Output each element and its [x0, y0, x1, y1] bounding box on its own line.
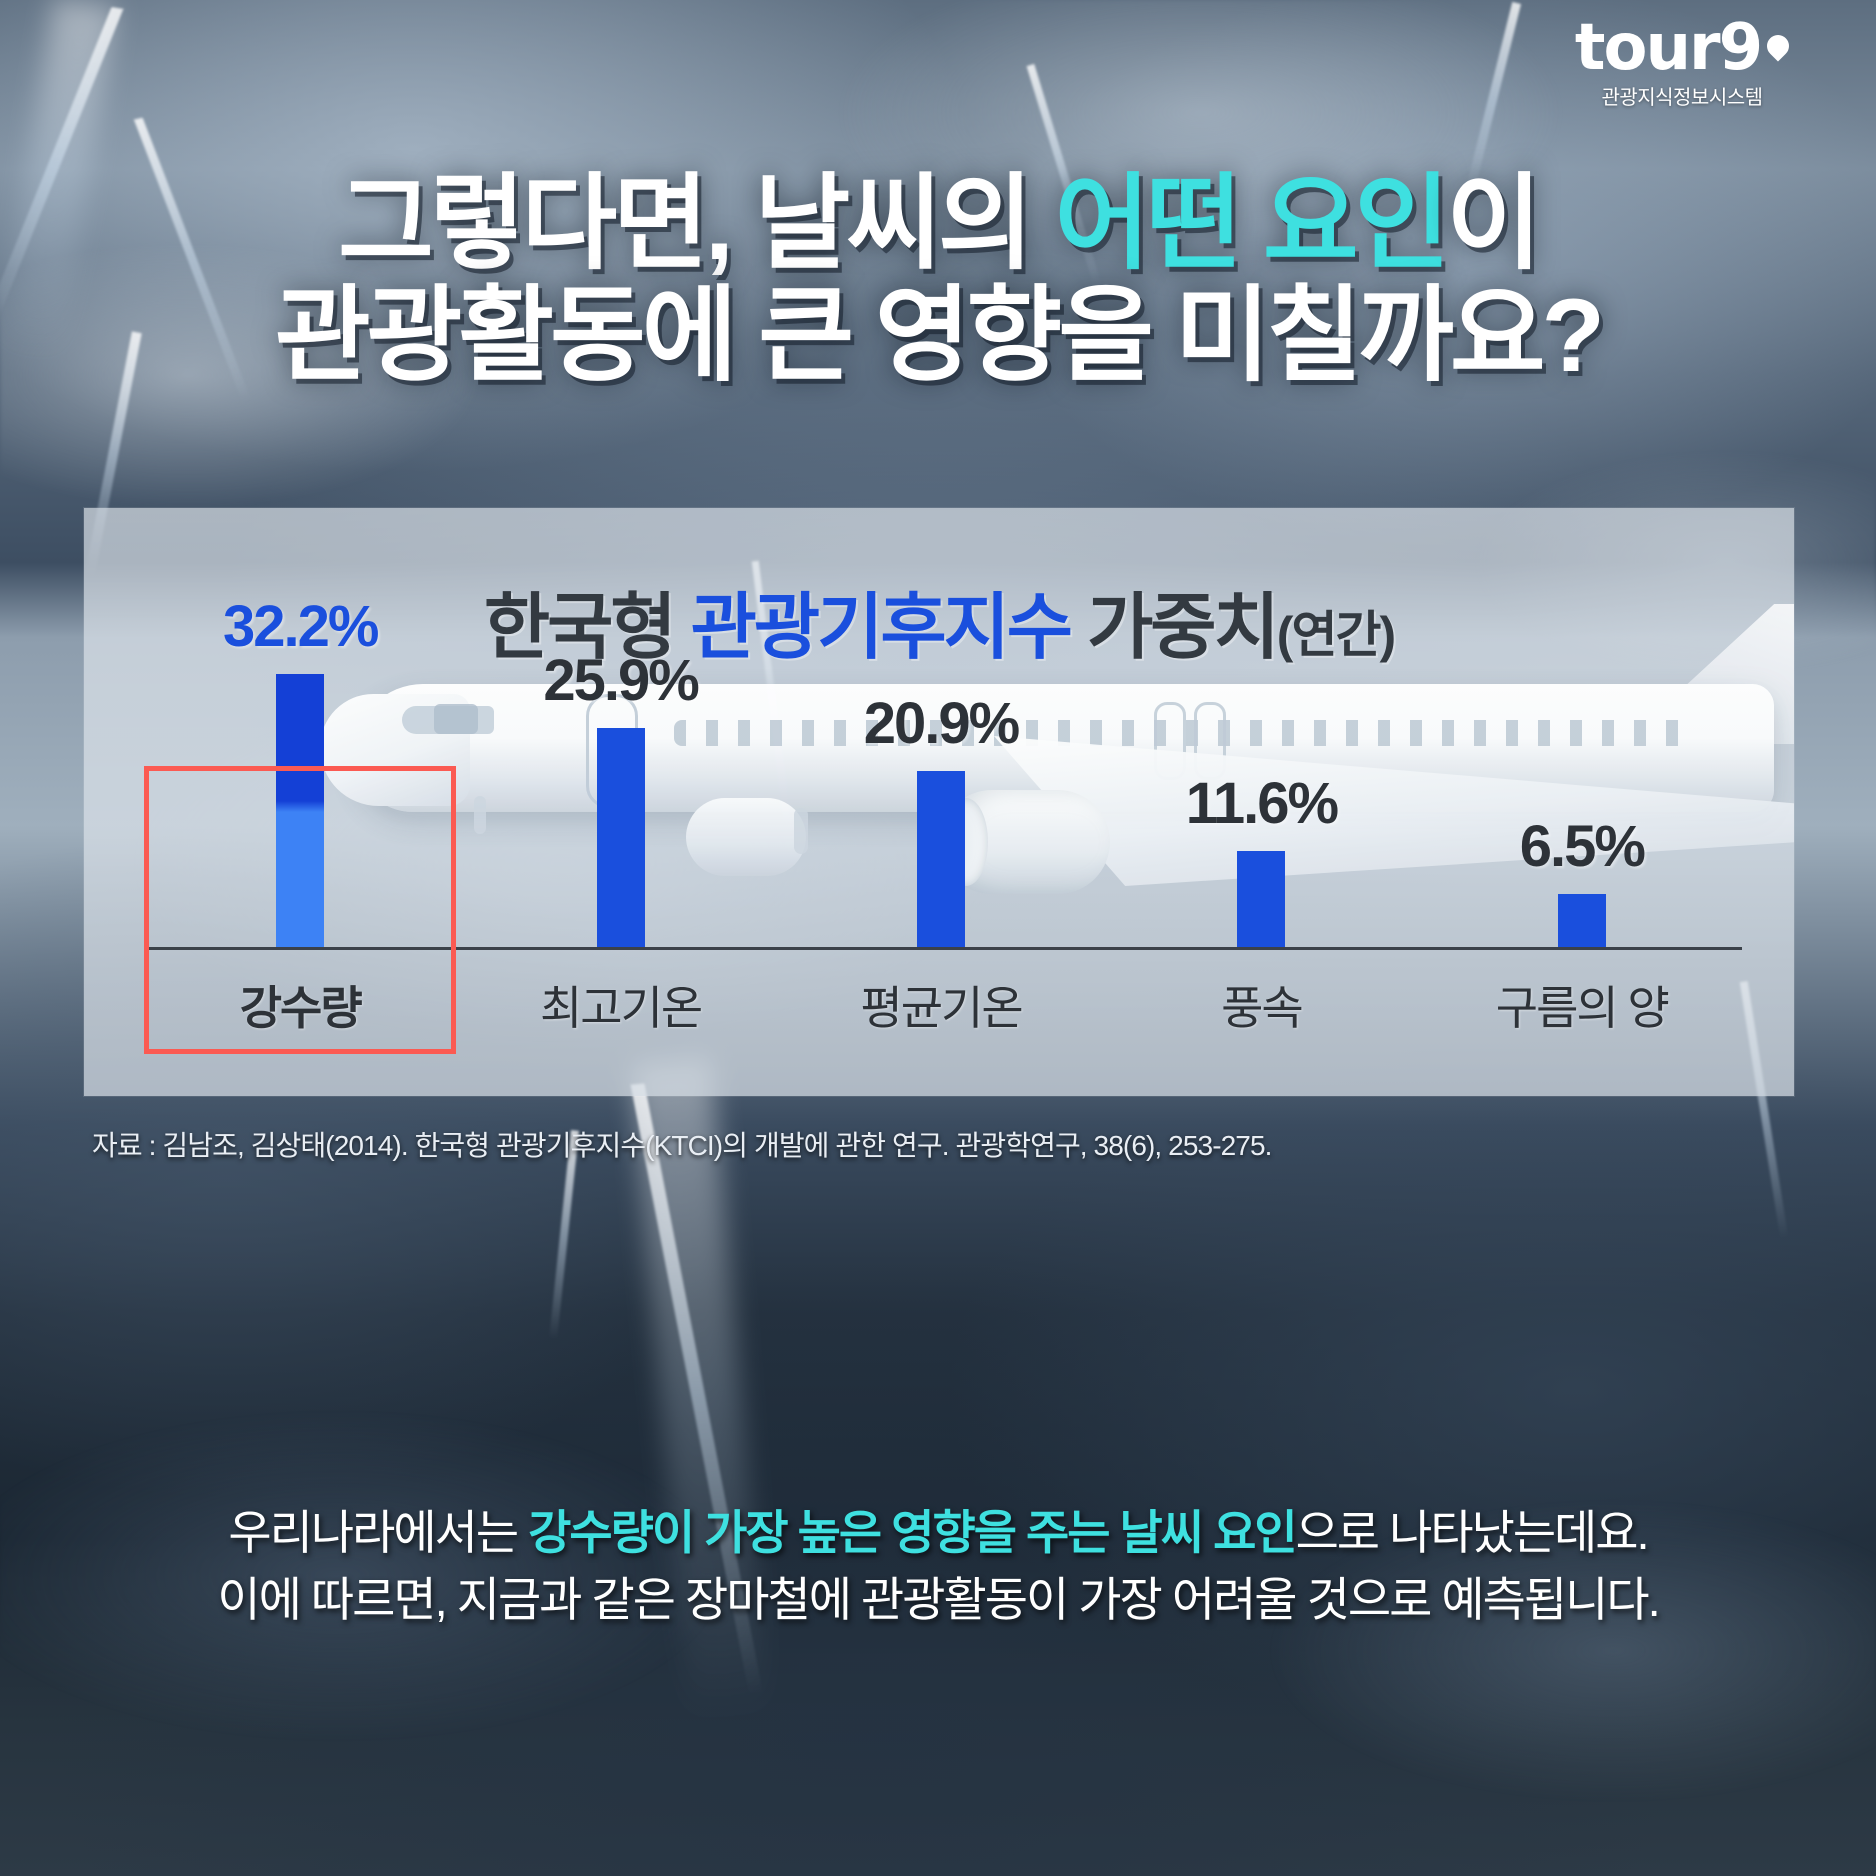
bar	[917, 771, 965, 950]
headline: 그렇다면, 날씨의 어떤 요인이 관광활동에 큰 영향을 미칠까요?	[0, 168, 1876, 393]
headline-line-1-lead: 그렇다면, 날씨의	[338, 166, 1054, 282]
bar-chart: 32.2%25.9%20.9%11.6%6.5% 강수량최고기온평균기온풍속구름…	[140, 698, 1742, 1068]
bottom-copy-line-1-highlight: 강수량이 가장 높은 영향을 주는 날씨 요인	[528, 1506, 1295, 1559]
category-label: 구름의 양	[1422, 972, 1742, 1038]
bottom-copy: 우리나라에서는 강수량이 가장 높은 영향을 주는 날씨 요인으로 나타났는데요…	[0, 1500, 1876, 1633]
headline-line-2: 관광활동에 큰 영향을 미칠까요?	[0, 280, 1876, 392]
chart-panel: 한국형 관광기후지수 가중치(연간) 32.2%25.9%20.9%11.6%6…	[84, 508, 1794, 1096]
bottom-copy-line-1-tail: 으로 나타났는데요.	[1296, 1506, 1648, 1559]
brand-tagline: 관광지식정보시스템	[1532, 81, 1832, 110]
category-label: 최고기온	[460, 972, 780, 1038]
bar-column: 25.9%	[460, 650, 780, 950]
bar-value-label: 20.9%	[781, 690, 1101, 757]
category-axis-labels: 강수량최고기온평균기온풍속구름의 양	[140, 972, 1742, 1038]
category-label: 강수량	[140, 972, 460, 1038]
bar	[597, 728, 645, 950]
infographic-card: tour9 관광지식정보시스템 그렇다면, 날씨의 어떤 요인이 관광활동에 큰…	[0, 0, 1876, 1876]
category-label: 평균기온	[781, 972, 1101, 1038]
bar-column: 6.5%	[1422, 650, 1742, 950]
bar-column: 11.6%	[1101, 650, 1421, 950]
headline-line-1-highlight: 어떤 요인	[1055, 166, 1447, 282]
headline-line-1-tail: 이	[1446, 166, 1538, 282]
chart-baseline-axis	[148, 947, 1742, 950]
bottom-copy-line-1: 우리나라에서는 강수량이 가장 높은 영향을 주는 날씨 요인으로 나타났는데요…	[0, 1500, 1876, 1567]
category-label: 풍속	[1101, 972, 1421, 1038]
source-citation: 자료 : 김남조, 김상태(2014). 한국형 관광기후지수(KTCI)의 개…	[92, 1124, 1272, 1164]
bar-value-label: 6.5%	[1422, 813, 1742, 880]
bar-column: 20.9%	[781, 650, 1101, 950]
location-pin-icon	[1767, 35, 1789, 65]
bottom-copy-line-1-lead: 우리나라에서는	[228, 1506, 528, 1559]
logo-wordmark: tour9	[1575, 18, 1761, 79]
bar-column: 32.2%	[140, 650, 460, 950]
bottom-copy-line-2: 이에 따르면, 지금과 같은 장마철에 관광활동이 가장 어려울 것으로 예측됩…	[0, 1567, 1876, 1634]
bar	[1558, 894, 1606, 950]
brand-logo[interactable]: tour9 관광지식정보시스템	[1532, 18, 1832, 110]
bar	[1237, 851, 1285, 950]
headline-line-1: 그렇다면, 날씨의 어떤 요인이	[0, 168, 1876, 280]
bar-series: 32.2%25.9%20.9%11.6%6.5%	[140, 650, 1742, 950]
logo-mark: tour9	[1532, 18, 1832, 79]
bar-value-label: 25.9%	[460, 647, 780, 714]
bar-value-label: 11.6%	[1101, 770, 1421, 837]
bar	[276, 674, 324, 950]
bar-value-label: 32.2%	[140, 593, 460, 660]
